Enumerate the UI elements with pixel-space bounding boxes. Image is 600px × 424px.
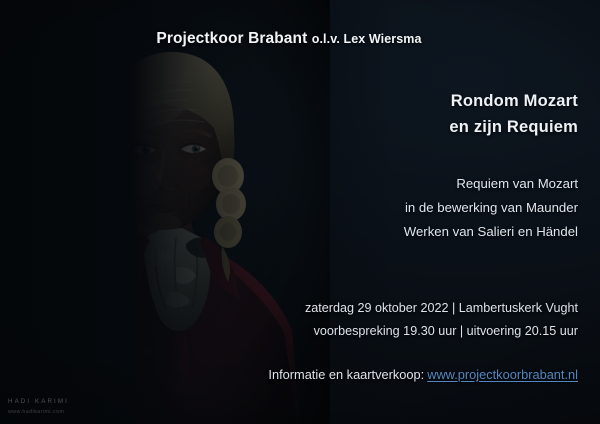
program-list: Requiem van Mozart in de bewerking van M… [404, 172, 578, 244]
concert-title-line-2: en zijn Requiem [449, 114, 578, 140]
program-line-2: in de bewerking van Maunder [404, 196, 578, 220]
concert-poster: Projectkoor Brabant o.l.v. Lex Wiersma R… [0, 0, 600, 424]
event-date-venue: zaterdag 29 oktober 2022 | Lambertuskerk… [305, 297, 578, 320]
concert-title: Rondom Mozart en zijn Requiem [449, 88, 578, 140]
artist-name: HADI KARIMI [8, 397, 69, 407]
program-line-3: Werken van Salieri en Händel [404, 220, 578, 244]
poster-text-layer: Projectkoor Brabant o.l.v. Lex Wiersma R… [0, 0, 600, 424]
event-times: voorbespreking 19.30 uur | uitvoering 20… [305, 320, 578, 343]
website-link[interactable]: www.projectkoorbrabant.nl [427, 367, 578, 382]
ensemble-headline: Projectkoor Brabant o.l.v. Lex Wiersma [0, 30, 578, 48]
event-details: zaterdag 29 oktober 2022 | Lambertuskerk… [305, 297, 578, 343]
conductor-credit: o.l.v. Lex Wiersma [312, 32, 422, 46]
ticket-info: Informatie en kaartverkoop:www.projectko… [268, 367, 578, 382]
program-line-1: Requiem van Mozart [404, 172, 578, 196]
ensemble-name: Projectkoor Brabant [156, 30, 311, 47]
artist-website: www.hadikarimi.com [8, 407, 69, 417]
artist-credit-watermark: HADI KARIMI www.hadikarimi.com [8, 397, 69, 417]
ticket-info-label: Informatie en kaartverkoop: [268, 367, 424, 382]
concert-title-line-1: Rondom Mozart [449, 88, 578, 114]
